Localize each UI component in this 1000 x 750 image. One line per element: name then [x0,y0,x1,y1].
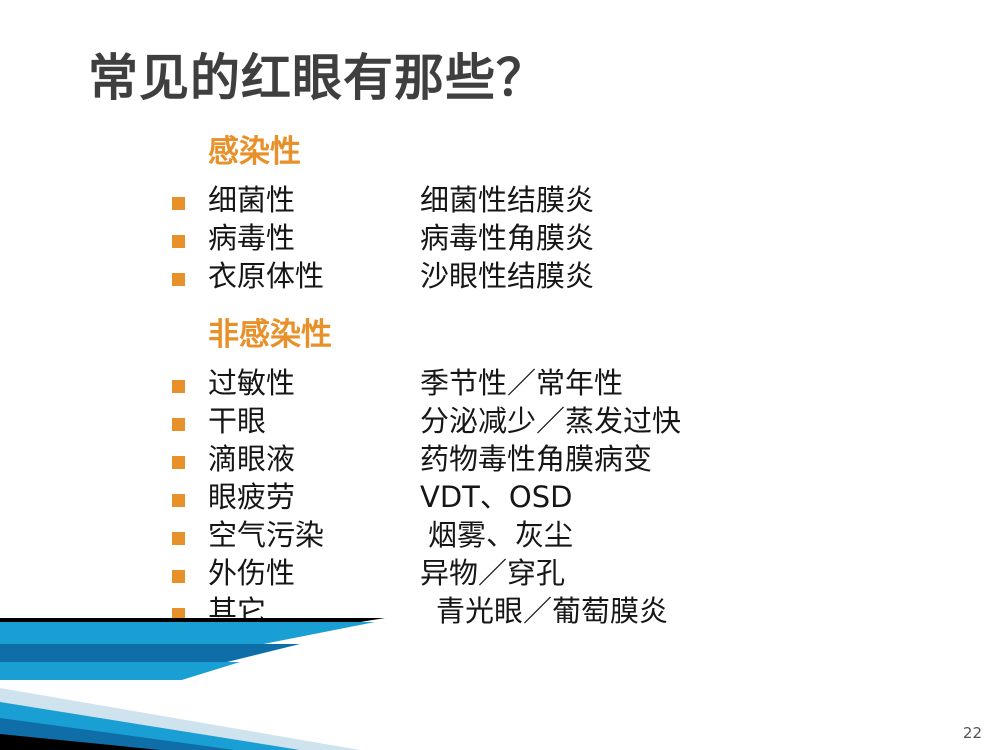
bullet-icon [172,558,208,596]
list-item: 眼疲劳 VDT、OSD [172,474,932,512]
bullet-icon [172,185,208,223]
section-heading-noninfectious: 非感染性 [208,317,932,354]
row-disease: 药物毒性角膜病变 [420,436,652,478]
row-disease: 沙眼性结膜炎 [420,253,594,295]
section-heading-infectious: 感染性 [208,134,932,171]
list-item: 衣原体性 沙眼性结膜炎 [172,253,932,291]
list-item: 病毒性 病毒性角膜炎 [172,215,932,253]
row-cause: 衣原体性 [208,253,420,295]
list-item: 细菌性 细菌性结膜炎 [172,177,932,215]
list-item: 空气污染 烟雾、灰尘 [172,512,932,550]
row-disease: 季节性／常年性 [420,360,623,402]
bullet-icon [172,444,208,482]
list-item: 外伤性 异物／穿孔 [172,550,932,588]
slide: 常见的红眼有那些？ 感染性 细菌性 细菌性结膜炎 病毒性 病毒性角膜炎 衣原体性… [0,0,1000,750]
row-cause: 细菌性 [208,177,420,219]
row-disease: 异物／穿孔 [420,550,565,592]
row-cause: 空气污染 [208,512,420,554]
list-item: 干眼 分泌减少／蒸发过快 [172,398,932,436]
row-cause: 干眼 [208,398,420,440]
list-item: 滴眼液 药物毒性角膜病变 [172,436,932,474]
row-cause: 外伤性 [208,550,420,592]
row-cause: 过敏性 [208,360,420,402]
row-cause: 病毒性 [208,215,420,257]
page-title: 常见的红眼有那些？ [88,38,547,110]
row-disease: 烟雾、灰尘 [420,512,573,554]
bullet-icon [172,368,208,406]
bullet-icon [172,223,208,261]
row-cause: 滴眼液 [208,436,420,478]
row-disease: 青光眼／葡萄膜炎 [420,588,668,630]
bullet-icon [172,406,208,444]
bullet-icon [172,482,208,520]
row-disease: 分泌减少／蒸发过快 [420,398,681,440]
row-disease: 病毒性角膜炎 [420,215,594,257]
corner-decoration-graphic [0,618,430,750]
row-disease: 细菌性结膜炎 [420,177,594,219]
page-number: 22 [963,724,982,742]
row-cause: 眼疲劳 [208,474,420,516]
row-disease: VDT、OSD [420,474,572,516]
bullet-icon [172,261,208,299]
bullet-icon [172,520,208,558]
list-item: 过敏性 季节性／常年性 [172,360,932,398]
content-body: 感染性 细菌性 细菌性结膜炎 病毒性 病毒性角膜炎 衣原体性 沙眼性结膜炎 非感… [172,134,932,626]
